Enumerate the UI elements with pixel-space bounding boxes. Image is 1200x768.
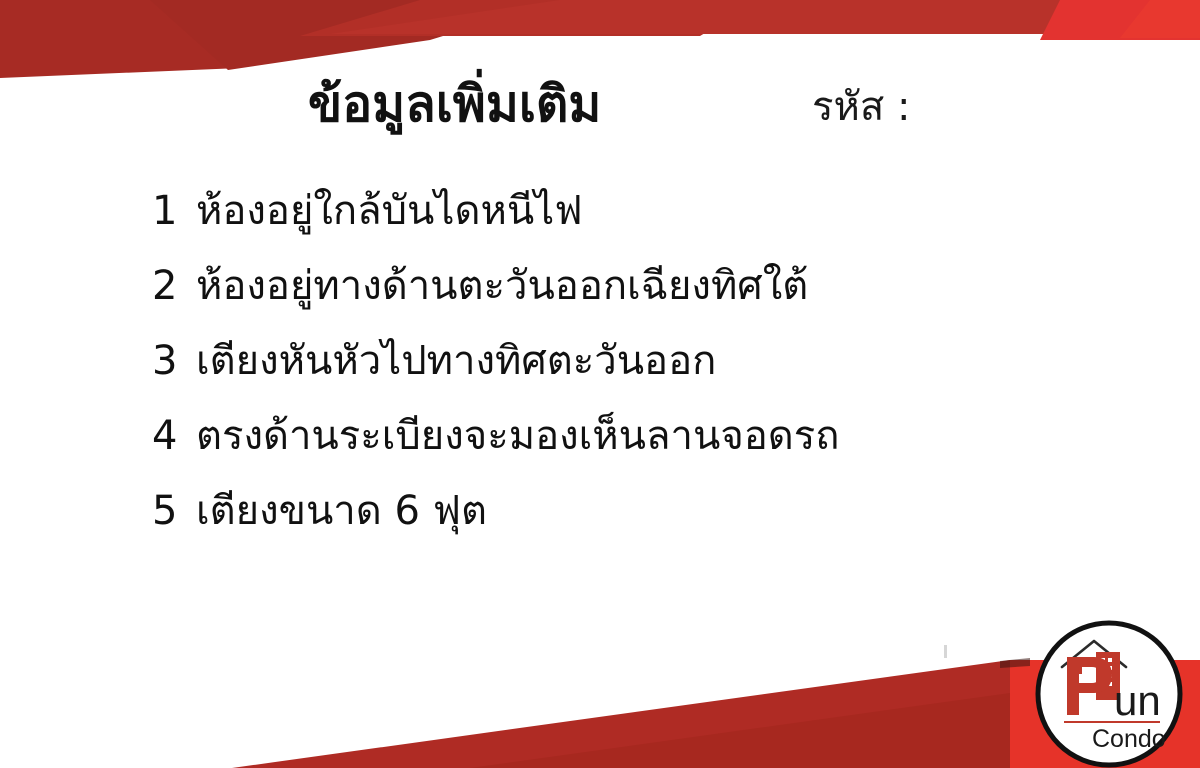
list-item-text: เตียงขนาด 6 ฟุต xyxy=(196,478,487,542)
list-item: 3 เตียงหันหัวไปทางทิศตะวันออก xyxy=(152,328,1052,403)
pun-condo-logo: un Condo xyxy=(1034,619,1184,768)
list-item: 4 ตรงด้านระเบียงจะมองเห็นลานจอดรถ xyxy=(152,403,1052,478)
list-item-text: ห้องอยู่ทางด้านตะวันออกเฉียงทิศใต้ xyxy=(196,253,808,317)
bottom-banner-shadow xyxy=(1000,658,1030,668)
list-item-text: ตรงด้านระเบียงจะมองเห็นลานจอดรถ xyxy=(196,403,839,467)
bottom-banner-dark2 xyxy=(470,693,1010,768)
logo-text-un: un xyxy=(1114,677,1161,724)
top-banner-body xyxy=(0,0,1200,78)
top-banner-dark-left xyxy=(0,0,420,78)
list-item: 5 เตียงขนาด 6 ฟุต xyxy=(152,478,1052,553)
list-item-number: 1 xyxy=(152,188,186,234)
top-banner-dark-mid xyxy=(150,0,560,70)
scan-artifact xyxy=(944,645,947,658)
slide-root: ข้อมูลเพิ่มเติม รหัส : 1 ห้องอยู่ใกล้บัน… xyxy=(0,0,1200,768)
list-item: 2 ห้องอยู่ทางด้านตะวันออกเฉียงทิศใต้ xyxy=(152,253,1052,328)
top-banner-mid2 xyxy=(330,0,1070,34)
list-item-number: 5 xyxy=(152,488,186,534)
logo-text-condo: Condo xyxy=(1092,725,1166,753)
bottom-banner-dark xyxy=(232,660,1010,768)
logo-p-notch xyxy=(1073,663,1082,674)
additional-info-list: 1 ห้องอยู่ใกล้บันไดหนีไฟ 2 ห้องอยู่ทางด้… xyxy=(152,178,1052,553)
page-title: ข้อมูลเพิ่มเติม xyxy=(308,76,601,134)
list-item-number: 3 xyxy=(152,338,186,384)
top-banner-mid xyxy=(300,0,760,36)
list-item-number: 4 xyxy=(152,413,186,459)
code-label: รหัส : xyxy=(812,74,910,138)
list-item-text: เตียงหันหัวไปทางทิศตะวันออก xyxy=(196,328,716,392)
list-item: 1 ห้องอยู่ใกล้บันไดหนีไฟ xyxy=(152,178,1052,253)
top-banner-bright-right2 xyxy=(1120,0,1200,38)
list-item-number: 2 xyxy=(152,263,186,309)
top-banner-bright-right xyxy=(1040,0,1200,40)
list-item-text: ห้องอยู่ใกล้บันไดหนีไฟ xyxy=(196,178,583,242)
